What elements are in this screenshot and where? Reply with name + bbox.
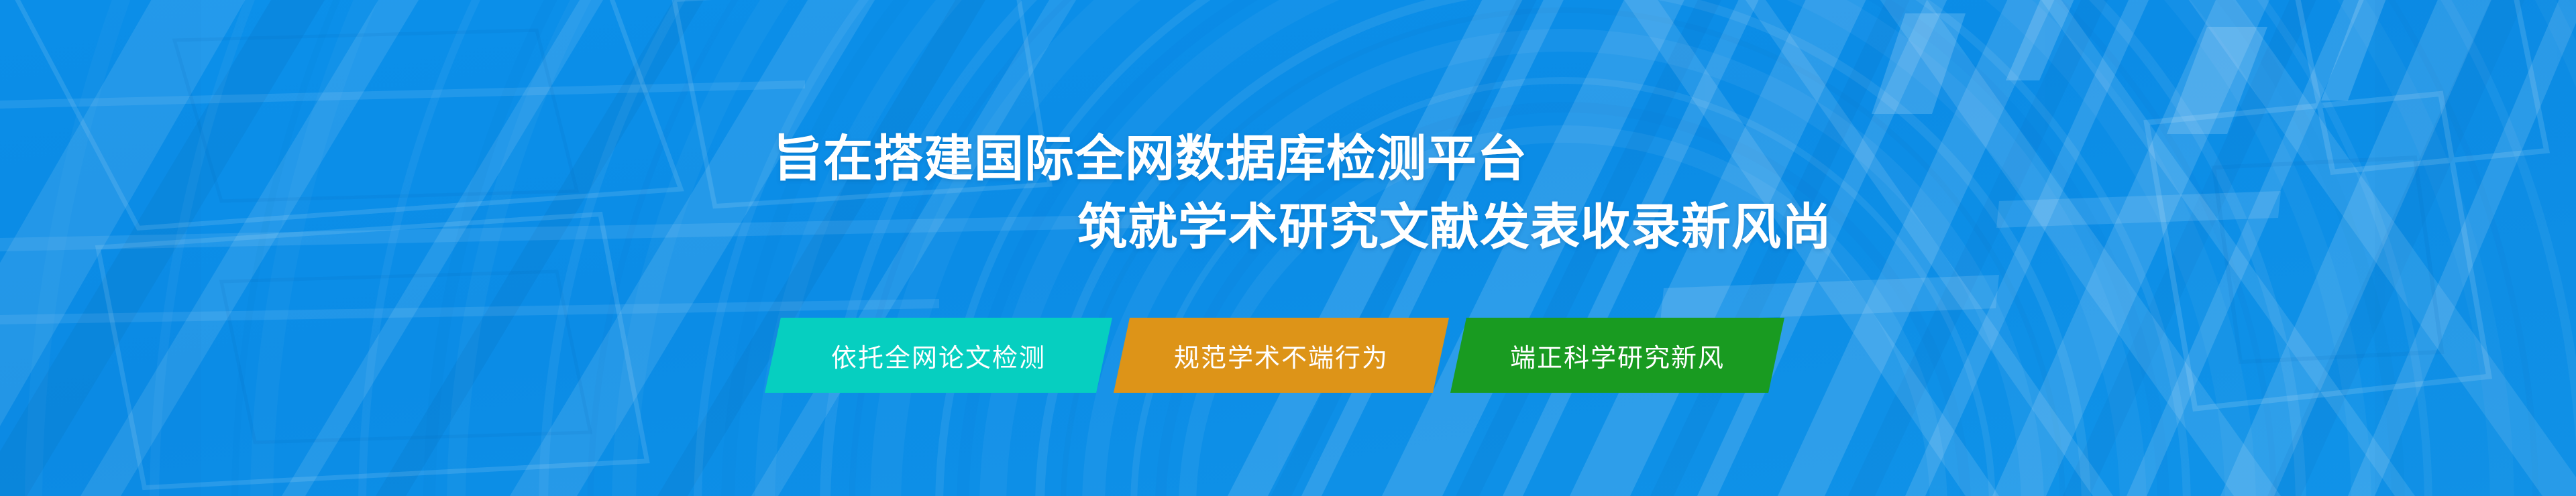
- feature-tag-integrity-label: 端正科学研究新风: [1510, 337, 1725, 374]
- feature-tag-misconduct[interactable]: 规范学术不端行为: [1114, 318, 1449, 393]
- feature-tag-band: 依托全网论文检测 规范学术不端行为 端正科学研究新风: [765, 318, 1784, 393]
- headline-line-1: 旨在搭建国际全网数据库检测平台: [773, 134, 1527, 184]
- feature-tag-detection[interactable]: 依托全网论文检测: [765, 318, 1112, 393]
- hero-banner: 旨在搭建国际全网数据库检测平台 筑就学术研究文献发表收录新风尚 依托全网论文检测…: [0, 0, 2576, 496]
- hero-copy: 旨在搭建国际全网数据库检测平台 筑就学术研究文献发表收录新风尚: [0, 0, 2576, 496]
- feature-tag-integrity[interactable]: 端正科学研究新风: [1450, 318, 1784, 393]
- headline-line-2: 筑就学术研究文献发表收录新风尚: [1077, 202, 1832, 252]
- feature-tag-detection-label: 依托全网论文检测: [831, 337, 1046, 374]
- feature-tag-misconduct-label: 规范学术不端行为: [1174, 337, 1389, 374]
